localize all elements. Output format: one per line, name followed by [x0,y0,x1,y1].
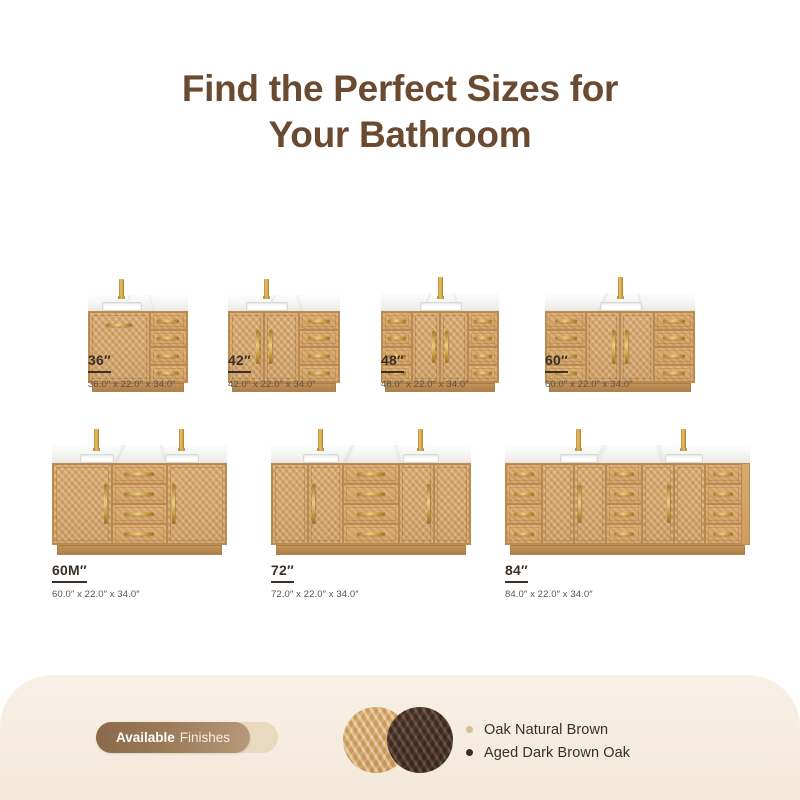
size-dimensions: 84.0″ x 22.0″ x 34.0″ [505,589,593,600]
plinth-base [276,545,466,555]
drawer-stack [654,312,694,382]
page-title: Find the Perfect Sizes for Your Bathroom [0,66,800,158]
size-name: 84″ [505,562,528,583]
size-name: 60M″ [52,562,87,583]
size-name: 48″ [381,352,404,373]
badge-light-text: Finishes [180,730,230,745]
sink-basin [102,302,142,311]
faucet [438,277,443,297]
title-line-2: Your Bathroom [0,112,800,158]
cabinet-door[interactable] [642,464,674,544]
drawer[interactable] [654,365,694,383]
badge-strong-text: Available [116,730,175,745]
cabinet-body [505,463,750,545]
drawer[interactable] [112,484,167,504]
countertop [505,445,750,463]
size-dimensions: 60.0″ x 22.0″ x 34.0″ [52,589,140,600]
cabinet-door[interactable] [674,464,706,544]
product-label-42: 42″ 42.0″ x 22.0″ x 34.0″ [228,352,316,390]
drawer-stack [705,464,741,544]
countertop [52,445,227,463]
size-dimensions: 36.0″ x 22.0″ x 34.0″ [88,379,176,390]
sink-basin [303,454,339,463]
drawer[interactable] [299,312,339,330]
sink-basin [560,454,598,463]
drawer[interactable] [546,312,586,330]
drawer[interactable] [382,312,412,330]
product-card-60m[interactable] [52,420,227,555]
product-card-72[interactable] [271,420,471,555]
cabinet-door[interactable] [434,464,470,544]
size-name: 72″ [271,562,294,583]
drawer[interactable] [606,484,642,504]
countertop [271,445,471,463]
size-dimensions: 72.0″ x 22.0″ x 34.0″ [271,589,359,600]
finish-legend: Oak Natural Brown Aged Dark Brown Oak [466,718,630,764]
product-label-72: 72″ 72.0″ x 22.0″ x 34.0″ [271,562,359,600]
product-card-84[interactable] [505,420,750,555]
drawer[interactable] [705,524,741,544]
legend-label: Oak Natural Brown [484,722,608,738]
sink-basin [665,454,703,463]
sink-basin [246,302,288,311]
faucet [318,429,323,449]
product-label-60: 60″ 60.0″ x 22.0″ x 34.0″ [545,352,633,390]
drawer[interactable] [546,330,586,348]
drawer[interactable] [654,330,694,348]
size-name: 60″ [545,352,568,373]
legend-label: Aged Dark Brown Oak [484,745,630,761]
title-line-1: Find the Perfect Sizes for [182,68,618,109]
drawer[interactable] [606,504,642,524]
cabinet-door[interactable] [272,464,308,544]
faucet [264,279,269,297]
size-dimensions: 42.0″ x 22.0″ x 34.0″ [228,379,316,390]
product-label-48: 48″ 48.0″ x 22.0″ x 34.0″ [381,352,469,390]
sink-basin [165,454,199,463]
drawer[interactable] [506,484,542,504]
drawer[interactable] [654,312,694,330]
faucet [179,429,184,449]
drawer-stack [606,464,642,544]
product-label-84: 84″ 84.0″ x 22.0″ x 34.0″ [505,562,593,600]
aged-dark-brown-oak-swatch[interactable] [387,707,453,773]
drawer[interactable] [705,504,741,524]
cabinet-door[interactable] [308,464,344,544]
drawer[interactable] [343,464,398,484]
drawer[interactable] [150,312,187,330]
drawer[interactable] [468,312,498,330]
faucet [681,429,686,449]
drawer[interactable] [506,464,542,484]
drawer[interactable] [468,330,498,348]
drawer[interactable] [343,524,398,544]
faucet [418,429,423,449]
cabinet-door[interactable] [53,464,112,544]
drawer-stack [506,464,542,544]
drawer[interactable] [654,347,694,365]
legend-item: Oak Natural Brown [466,718,630,741]
drawer[interactable] [705,464,741,484]
drawer[interactable] [112,524,167,544]
drawer[interactable] [343,484,398,504]
faucet [119,279,124,297]
cabinet-body [52,463,227,545]
sink-basin [80,454,114,463]
drawer[interactable] [112,464,167,484]
drawer[interactable] [299,330,339,348]
drawer-stack [112,464,167,544]
cabinet-door[interactable] [167,464,226,544]
drawer-stack [468,312,498,382]
product-label-60m: 60M″ 60.0″ x 22.0″ x 34.0″ [52,562,140,600]
drawer[interactable] [506,504,542,524]
size-name: 36″ [88,352,111,373]
faucet [618,277,623,297]
drawer[interactable] [705,484,741,504]
cabinet-door[interactable] [542,464,574,544]
infographic-page: Find the Perfect Sizes for Your Bathroom [0,0,800,800]
size-dimensions: 60.0″ x 22.0″ x 34.0″ [545,379,633,390]
size-name: 42″ [228,352,251,373]
drawer[interactable] [112,504,167,524]
drawer[interactable] [468,365,498,383]
drawer[interactable] [382,330,412,348]
faucet [94,429,99,449]
badge-label: Available Finishes [96,722,250,753]
sink-basin [403,454,439,463]
plinth-base [510,545,745,555]
drawer[interactable] [343,504,398,524]
drawer[interactable] [506,524,542,544]
cabinet-door[interactable] [399,464,435,544]
sink-basin [600,302,642,311]
bullet-dot-icon [466,749,473,756]
product-label-36: 36″ 36.0″ x 22.0″ x 34.0″ [88,352,176,390]
bullet-dot-icon [466,726,473,733]
drawer[interactable] [606,464,642,484]
sink-basin [420,302,462,311]
drawer[interactable] [150,330,187,348]
cabinet-body [271,463,471,545]
drawer-stack [343,464,398,544]
cabinet-door[interactable] [574,464,606,544]
drawer[interactable] [606,524,642,544]
legend-item: Aged Dark Brown Oak [466,741,630,764]
faucet [576,429,581,449]
finish-swatches [343,707,463,775]
drawer[interactable] [468,347,498,365]
plinth-base [57,545,222,555]
size-dimensions: 48.0″ x 22.0″ x 34.0″ [381,379,469,390]
